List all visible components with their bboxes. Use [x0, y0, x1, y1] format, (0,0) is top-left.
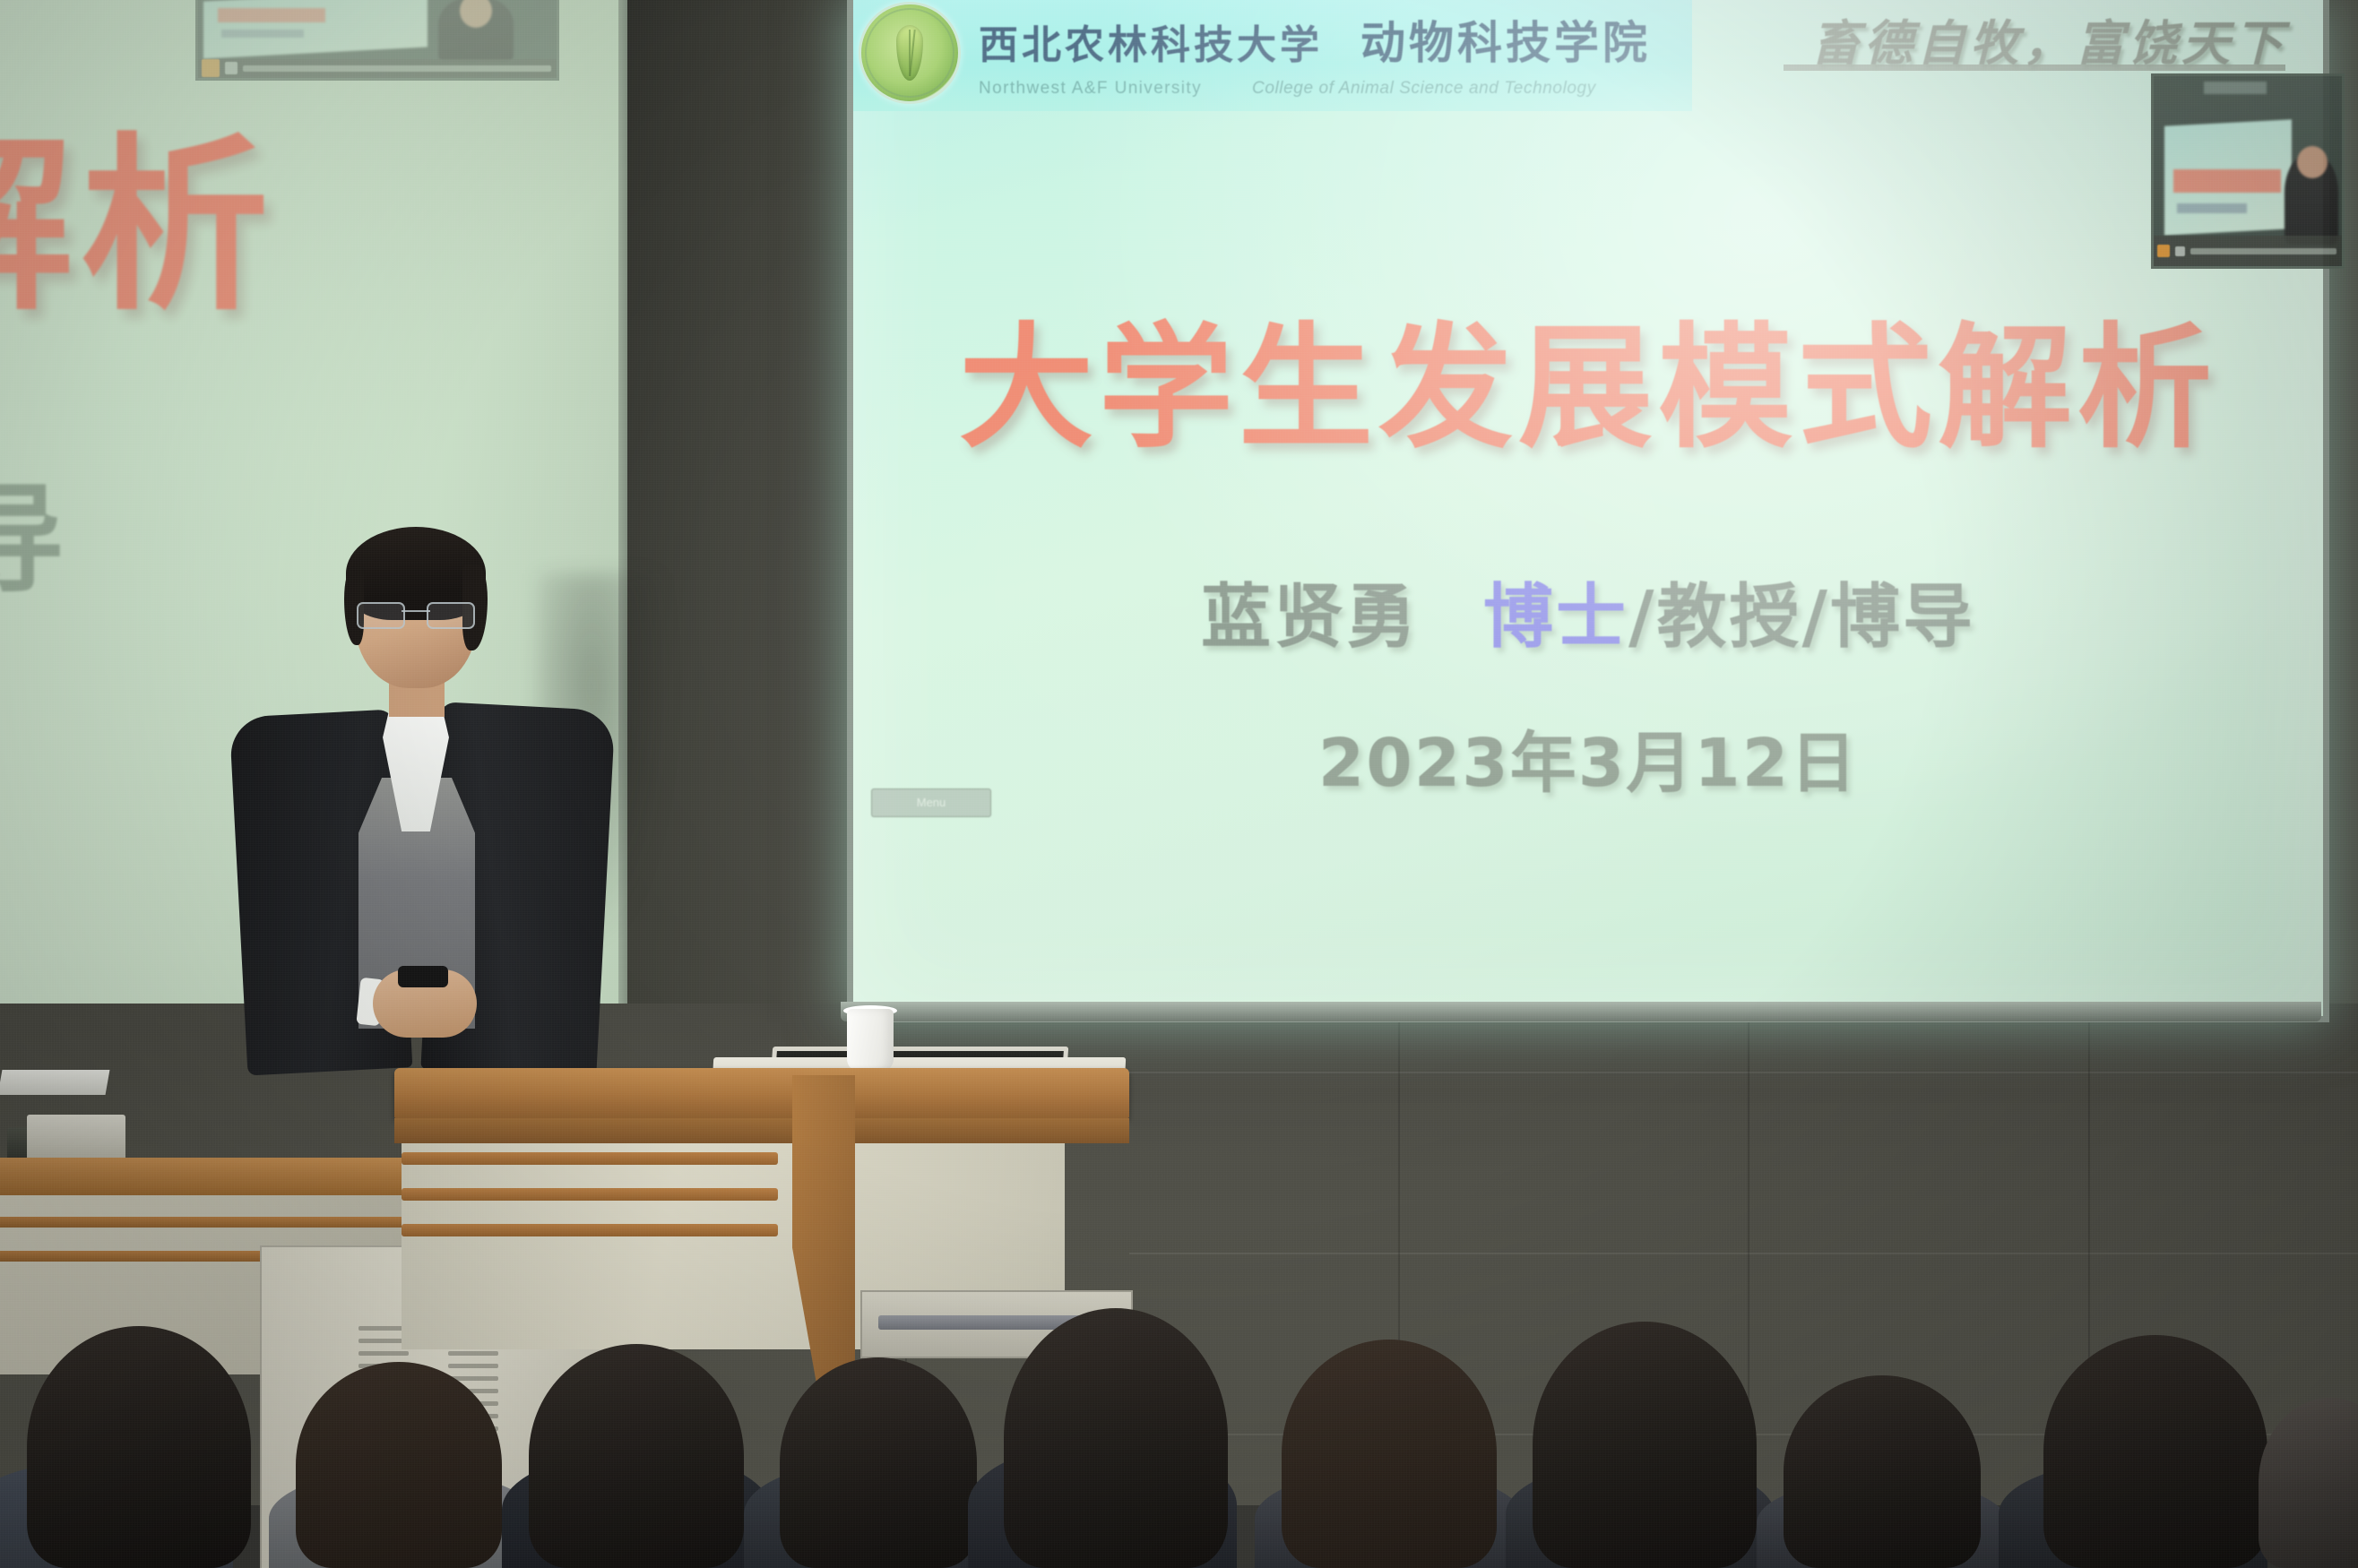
- audience-head: [1282, 1340, 1497, 1568]
- lectern-slat: [402, 1188, 778, 1201]
- college-name-cn: 动物科技学院: [1360, 7, 1651, 72]
- university-name-cn: 西北农林科技大学: [979, 13, 1323, 70]
- audience-head: [1004, 1308, 1228, 1568]
- audience-head: [1533, 1322, 1757, 1568]
- stream-pip-top-left[interactable]: [195, 0, 559, 81]
- lectern-top: [394, 1068, 1129, 1118]
- audience-head: [780, 1357, 977, 1568]
- projection-screen: 西北农林科技大学 动物科技学院 Northwest A&F University…: [847, 0, 2329, 1022]
- person-icon: [225, 62, 238, 74]
- presenter-titles: /教授/博导: [1628, 577, 1975, 658]
- presenter-name: 蓝贤勇: [1201, 577, 1419, 658]
- stream-caption: [243, 65, 551, 72]
- user-avatar-icon: [2157, 245, 2170, 257]
- user-avatar-icon: [202, 59, 220, 77]
- audience-head: [2043, 1335, 2267, 1568]
- side-desk-slat: [0, 1217, 421, 1228]
- wall-seam: [1129, 1072, 2358, 1073]
- lectern-top-edge: [394, 1118, 1129, 1143]
- side-desk-top: [0, 1158, 421, 1195]
- stream-toolbar[interactable]: [198, 59, 557, 78]
- wall-seam: [1129, 1253, 2358, 1254]
- glasses-icon: [357, 602, 475, 627]
- presenter-degree: 博士: [1483, 577, 1628, 658]
- slide-header-banner: 西北农林科技大学 动物科技学院 Northwest A&F University…: [850, 0, 1692, 111]
- college-name-en: College of Animal Science and Technology: [1252, 79, 1596, 99]
- lectern-slat: [402, 1152, 778, 1165]
- lectern-slat: [402, 1224, 778, 1236]
- audience-head: [1784, 1375, 1981, 1568]
- stream-pip-top-right[interactable]: [2151, 73, 2345, 269]
- person-icon: [2175, 246, 2185, 256]
- audience-head: [296, 1362, 502, 1568]
- desk-box: [27, 1115, 125, 1161]
- lecture-hall-screenshot: 解析 导 西北农林科技大学 动物科技学院 No: [0, 0, 2358, 1568]
- paper-cup: [847, 1009, 894, 1072]
- audience-head: [529, 1344, 744, 1568]
- university-name-en: Northwest A&F University: [979, 79, 1202, 99]
- motto-underline: [1784, 65, 2285, 71]
- stream-caption: [2190, 248, 2336, 254]
- stream-toolbar[interactable]: [2154, 236, 2342, 266]
- wall-spill-title: 解析: [0, 73, 276, 346]
- wall-spill-subtitle: 导: [0, 444, 68, 616]
- slide-title: 大学生发展模式解析: [853, 280, 2323, 474]
- audience-head: [27, 1326, 251, 1568]
- projector-osd-button[interactable]: Menu: [871, 788, 991, 817]
- stream-caption-top: [2204, 82, 2267, 94]
- university-seal-leaf-icon: [859, 2, 961, 104]
- screen-frame-bottom: [841, 1002, 2321, 1021]
- slide-presenter-line: 蓝贤勇博士/教授/博导: [853, 561, 2323, 661]
- slide-date: 2023年3月12日: [853, 710, 2323, 806]
- desk-papers: [0, 1070, 109, 1095]
- presentation-clicker[interactable]: [398, 966, 448, 987]
